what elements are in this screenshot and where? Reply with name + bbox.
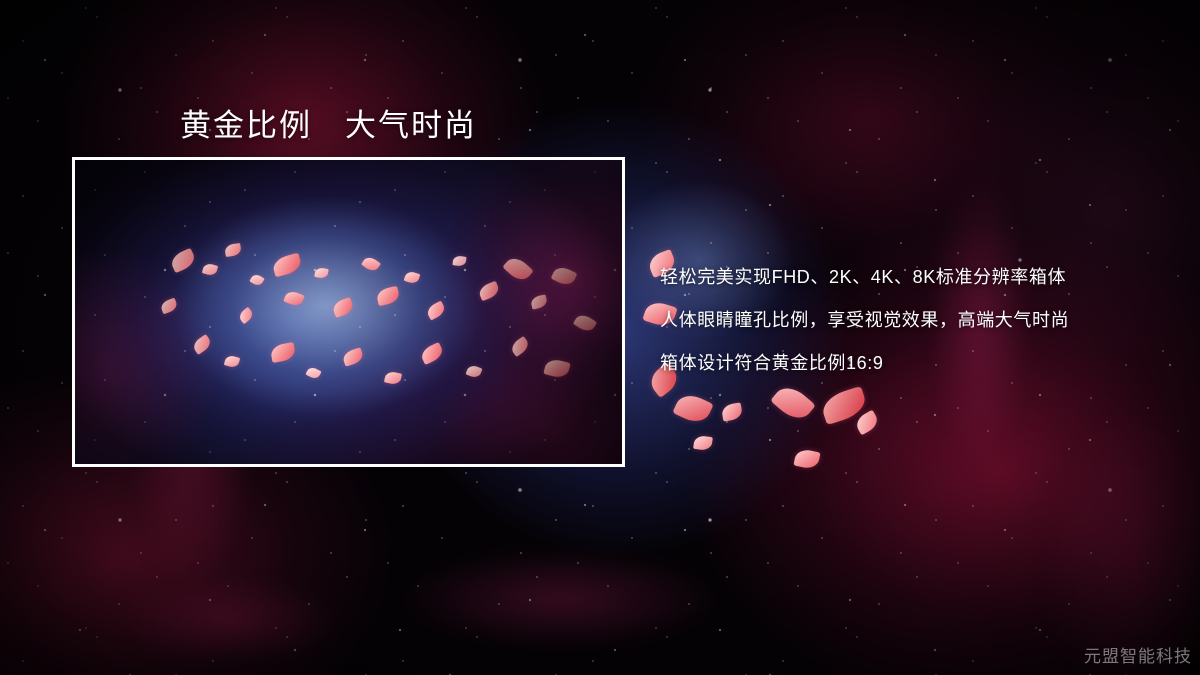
- rose-petal: [770, 381, 816, 425]
- framed-photo: [72, 157, 625, 467]
- watermark: 元盟智能科技: [1084, 642, 1192, 667]
- rose-petal: [693, 435, 713, 451]
- rose-petal: [672, 390, 713, 427]
- rose-petal: [721, 402, 743, 421]
- presentation-slide: 黄金比例 大气时尚 轻松完美实现FHD、2K、4K、8K标准分辨率箱体 人体眼睛…: [0, 0, 1200, 675]
- photo-vignette: [75, 160, 622, 464]
- rose-petal: [793, 448, 820, 471]
- body-line-1: 轻松完美实现FHD、2K、4K、8K标准分辨率箱体: [660, 256, 1180, 299]
- body-text-block: 轻松完美实现FHD、2K、4K、8K标准分辨率箱体 人体眼睛瞳孔比例，享受视觉效…: [660, 256, 1180, 385]
- body-line-2: 人体眼睛瞳孔比例，享受视觉效果，高端大气时尚: [660, 299, 1180, 342]
- rose-petal: [853, 410, 881, 436]
- slide-title: 黄金比例 大气时尚: [180, 100, 477, 145]
- rose-petal: [819, 386, 869, 425]
- body-line-3: 箱体设计符合黄金比例16:9: [660, 342, 1180, 385]
